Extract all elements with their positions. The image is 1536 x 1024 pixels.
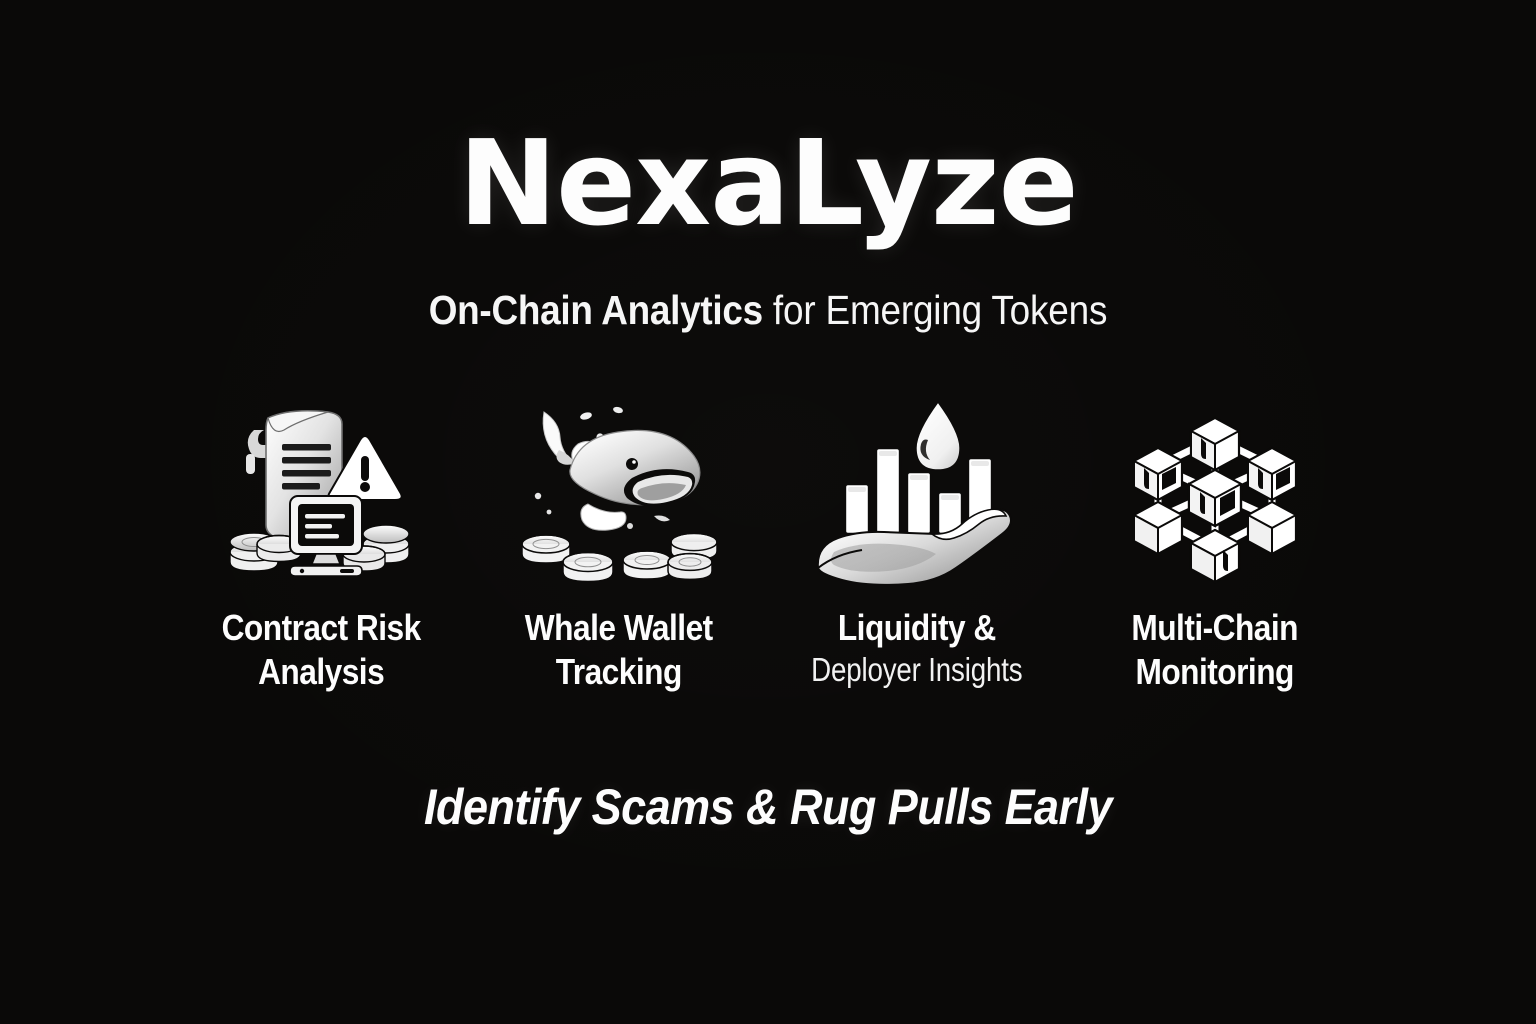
tagline: Identify Scams & Rug Pulls Early (77, 778, 1459, 836)
feature-label-line2: Analysis (221, 650, 420, 694)
feature-label-line2: Tracking (525, 650, 713, 694)
feature-item-contract-risk[interactable]: Contract Risk Analysis (172, 392, 470, 694)
feature-label: Liquidity & Deployer Insights (791, 606, 1043, 690)
poster-canvas: NexaLyze On-Chain Analytics for Emerging… (0, 0, 1536, 1024)
feature-label-line2: Deployer Insights (811, 650, 1022, 690)
feature-label: Whale Wallet Tracking (512, 606, 726, 694)
feature-list: Contract Risk Analysis (172, 392, 1364, 694)
feature-label: Contract Risk Analysis (208, 606, 434, 694)
feature-item-whale-wallet[interactable]: Whale Wallet Tracking (470, 392, 768, 694)
multi-chain-icon (1110, 392, 1320, 592)
subtitle-light: for Emerging Tokens (763, 287, 1107, 333)
page-title: NexaLyze (0, 124, 1536, 242)
feature-label: Multi-Chain Monitoring (1120, 606, 1309, 694)
subtitle-strong: On-Chain Analytics (429, 287, 763, 333)
contract-risk-icon (216, 392, 426, 592)
feature-label-line1: Liquidity & (806, 606, 1027, 650)
subtitle: On-Chain Analytics for Emerging Tokens (77, 290, 1459, 331)
feature-item-multi-chain[interactable]: Multi-Chain Monitoring (1066, 392, 1364, 694)
feature-item-liquidity[interactable]: Liquidity & Deployer Insights (768, 392, 1066, 690)
feature-label-line1: Whale Wallet (525, 606, 713, 650)
feature-label-line2: Monitoring (1132, 650, 1299, 694)
feature-label-line1: Contract Risk (221, 606, 420, 650)
liquidity-icon (812, 392, 1022, 592)
whale-wallet-icon (514, 392, 724, 592)
feature-label-line1: Multi-Chain (1132, 606, 1299, 650)
